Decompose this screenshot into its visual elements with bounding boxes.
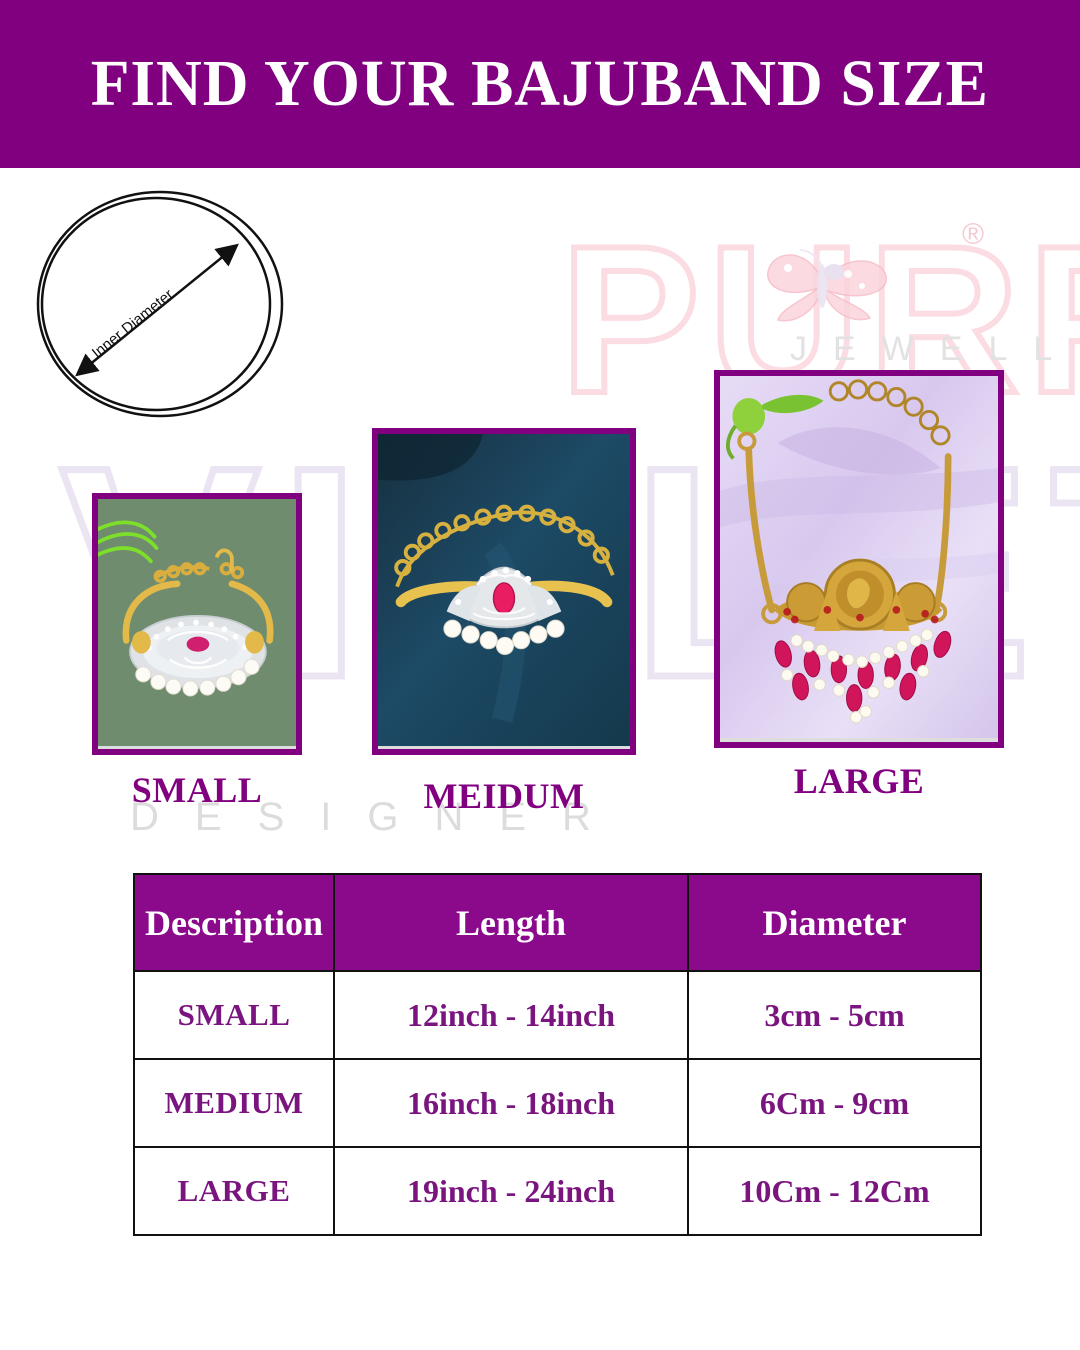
watermark-tagline-jewellery: JEWELLERY xyxy=(790,330,1080,369)
product-image-frame-small xyxy=(92,493,302,755)
product-photo-medium xyxy=(378,434,630,746)
cell-diameter-small: 3cm - 5cm xyxy=(688,971,981,1059)
cell-diameter-medium: 6Cm - 9cm xyxy=(688,1059,981,1147)
product-card-medium[interactable]: MEIDUM xyxy=(372,428,636,817)
inner-diameter-label: Inner Diameter xyxy=(89,286,177,362)
product-card-large[interactable]: LARGE xyxy=(714,370,1004,802)
cell-description-medium: MEDIUM xyxy=(134,1059,334,1147)
product-image-frame-large xyxy=(714,370,1004,748)
column-header-length: Length xyxy=(334,874,688,971)
column-header-diameter: Diameter xyxy=(688,874,981,971)
svg-text:Inner Diameter: Inner Diameter xyxy=(89,286,177,362)
registered-mark-icon: ® xyxy=(962,218,984,252)
product-image-frame-medium xyxy=(372,428,636,755)
size-label-large: LARGE xyxy=(714,760,1004,802)
table-row: MEDIUM 16inch - 18inch 6Cm - 9cm xyxy=(134,1059,981,1147)
table-row: LARGE 19inch - 24inch 10Cm - 12Cm xyxy=(134,1147,981,1235)
product-photo-small xyxy=(98,499,296,746)
page-title: FIND YOUR BAJUBAND SIZE xyxy=(91,46,989,122)
inner-diameter-diagram: Inner Diameter xyxy=(28,186,293,426)
product-photo-large xyxy=(720,376,998,738)
size-label-small: SMALL xyxy=(92,769,302,811)
cell-length-large: 19inch - 24inch xyxy=(334,1147,688,1235)
table-row: SMALL 12inch - 14inch 3cm - 5cm xyxy=(134,971,981,1059)
product-card-small[interactable]: SMALL xyxy=(92,493,302,811)
cell-length-medium: 16inch - 18inch xyxy=(334,1059,688,1147)
size-label-medium: MEIDUM xyxy=(372,775,636,817)
cell-description-large: LARGE xyxy=(134,1147,334,1235)
size-chart-table: Description Length Diameter SMALL 12inch… xyxy=(133,873,982,1236)
size-guide-page: VIOLET DESIGNER PURPLE JEWELLERY ® FIND … xyxy=(0,0,1080,1350)
cell-length-small: 12inch - 14inch xyxy=(334,971,688,1059)
cell-description-small: SMALL xyxy=(134,971,334,1059)
cell-diameter-large: 10Cm - 12Cm xyxy=(688,1147,981,1235)
column-header-description: Description xyxy=(134,874,334,971)
page-header: FIND YOUR BAJUBAND SIZE xyxy=(0,0,1080,168)
butterfly-icon xyxy=(752,228,902,338)
table-header-row: Description Length Diameter xyxy=(134,874,981,971)
